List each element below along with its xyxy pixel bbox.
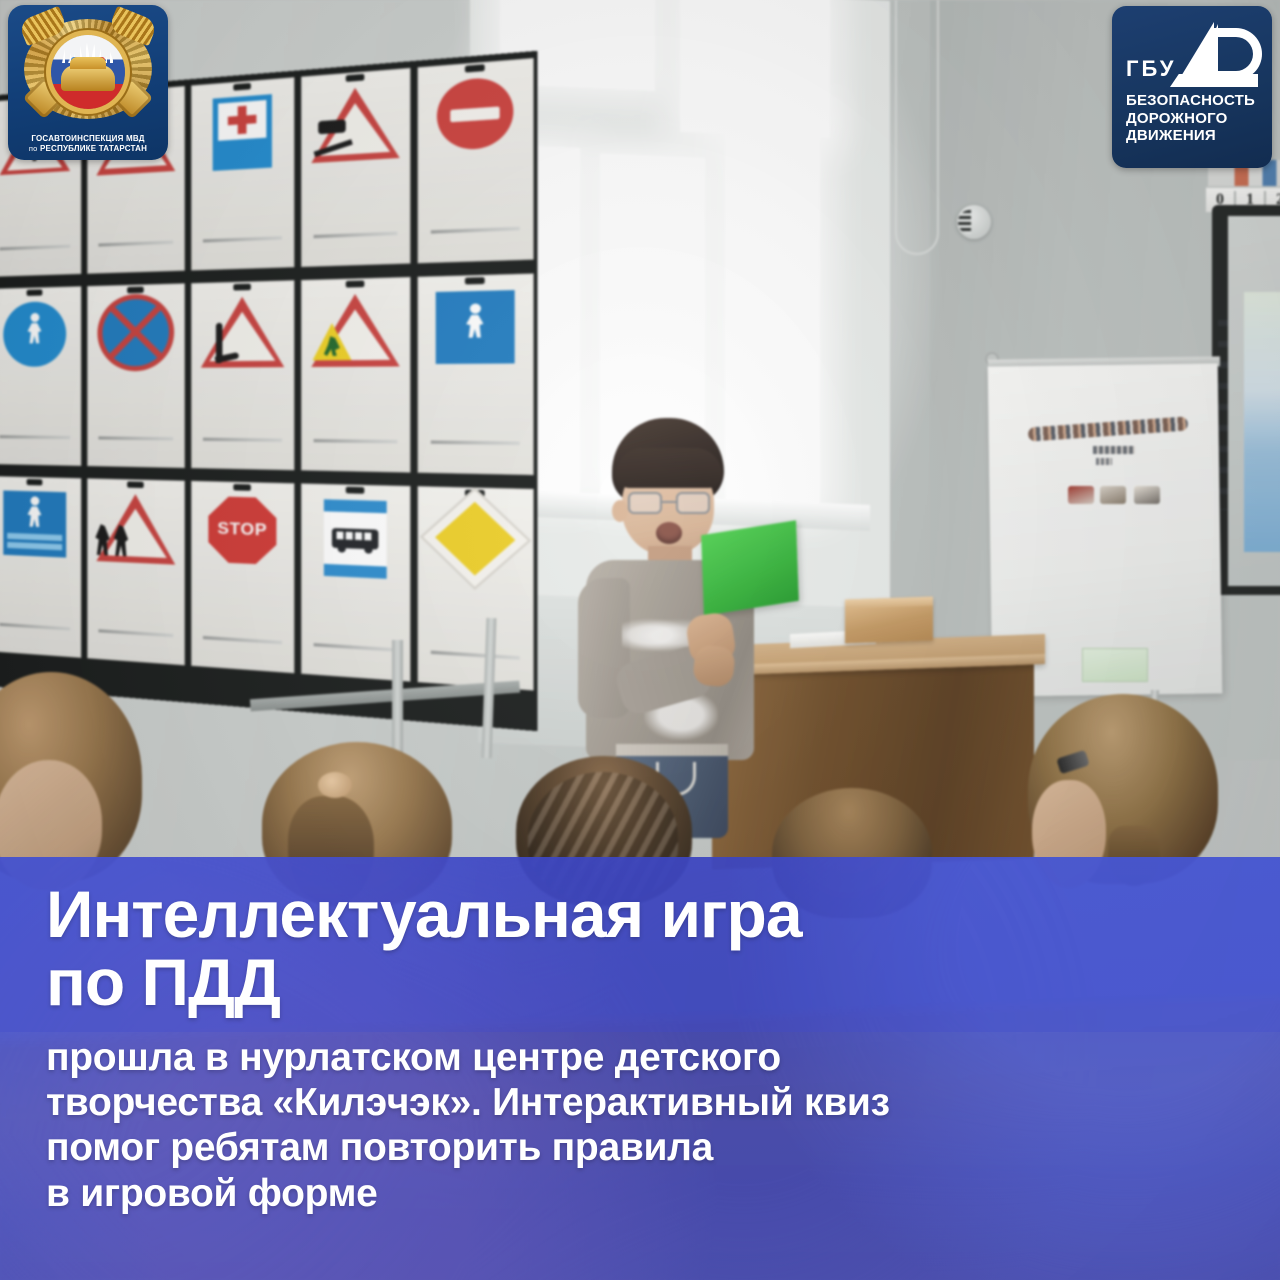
body-line-2: творчества «Килэчэк». Интерактивный квиз — [46, 1081, 890, 1124]
flipchart-magnet-sub — [1093, 446, 1135, 454]
flipchart-magnet — [1134, 486, 1160, 504]
headline-line-2: по ПДД — [46, 945, 280, 1019]
page-title: Интеллектуальная игра по ПДД — [46, 881, 1240, 1017]
sign-card-pedestrian-underpass — [418, 273, 534, 475]
sign-card-curve-right — [191, 280, 294, 470]
sign-card-stop: STOP — [191, 481, 294, 673]
page-body-text: прошла в нурлатском центре детского твор… — [46, 1035, 1240, 1216]
poster-image: STOP 0 1 2 — [0, 0, 1280, 1280]
sign-card-priority-road — [418, 486, 534, 690]
body-line-1: прошла в нурлатском центре детского — [46, 1036, 781, 1079]
sign-card-no-entry — [418, 58, 534, 263]
boy-fringe — [616, 448, 722, 488]
text-banner: Интеллектуальная игра по ПДД прошла в ну… — [0, 857, 1280, 1280]
projected-slide — [1244, 292, 1280, 552]
gbu-abbr: ГБУ — [1126, 56, 1176, 82]
gosavtoinspekciya-logo: ГОСАВТОИНСПЕКЦИЯ МВД по РЕСПУБЛИКЕ ТАТАР… — [8, 5, 168, 160]
whiteboard-button-strip — [1218, 320, 1228, 510]
gbu-full-name: БЕЗОПАСНОСТЬ ДОРОЖНОГО ДВИЖЕНИЯ — [1126, 92, 1262, 145]
boy-glasses — [628, 492, 712, 514]
logo-left-line2-prefix: по — [29, 144, 38, 153]
logo-left-line2: РЕСПУБЛИКЕ ТАТАРСТАН — [40, 144, 147, 153]
smoke-detector-icon — [957, 205, 991, 239]
gbu-line2: ДОРОЖНОГО — [1126, 110, 1262, 128]
body-line-4: в игровой форме — [46, 1172, 378, 1215]
gibdd-emblem-icon — [17, 11, 159, 123]
green-answer-card — [701, 520, 799, 616]
sign-row-2 — [0, 273, 537, 475]
sign-card-road-works — [301, 277, 410, 473]
cardboard-box — [845, 596, 933, 643]
flipchart-magnet — [1068, 486, 1094, 504]
boy-mouth — [656, 522, 682, 544]
board-leg — [392, 640, 403, 760]
sign-card-slippery-road — [301, 68, 410, 267]
flipchart-magnet-sub2 — [1096, 458, 1112, 465]
sign-card-subway-stairs — [0, 476, 81, 658]
logo-left-line1: ГОСАВТОИНСПЕКЦИЯ МВД — [8, 134, 168, 144]
gbu-bdd-mark-icon — [1172, 22, 1264, 88]
wall-cable — [895, 0, 939, 255]
body-line-3: помог ребятам повторить правила — [46, 1126, 713, 1169]
headline-line-1: Интеллектуальная игра — [46, 877, 802, 951]
boy-waistband — [616, 744, 728, 756]
gbu-line3: ДВИЖЕНИЯ — [1126, 127, 1262, 145]
stop-sign-label: STOP — [208, 496, 276, 565]
flipchart-magnet — [1100, 486, 1126, 504]
logo-left-caption: ГОСАВТОИНСПЕКЦИЯ МВД по РЕСПУБЛИКЕ ТАТАР… — [8, 134, 168, 154]
hair-scrunchie — [318, 772, 352, 798]
sign-card-pedestrian-crossing — [0, 286, 81, 466]
gbu-bdd-logo: ГБУ БЕЗОПАСНОСТЬ ДОРОЖНОГО ДВИЖЕНИЯ — [1112, 6, 1272, 168]
sign-card-no-stopping — [87, 283, 185, 468]
boy-ear — [612, 500, 628, 522]
sign-card-children-crossing — [87, 478, 185, 665]
gbu-line1: БЕЗОПАСНОСТЬ — [1126, 92, 1262, 110]
green-note-on-easel — [1082, 648, 1148, 682]
sign-card-first-aid — [191, 77, 294, 270]
